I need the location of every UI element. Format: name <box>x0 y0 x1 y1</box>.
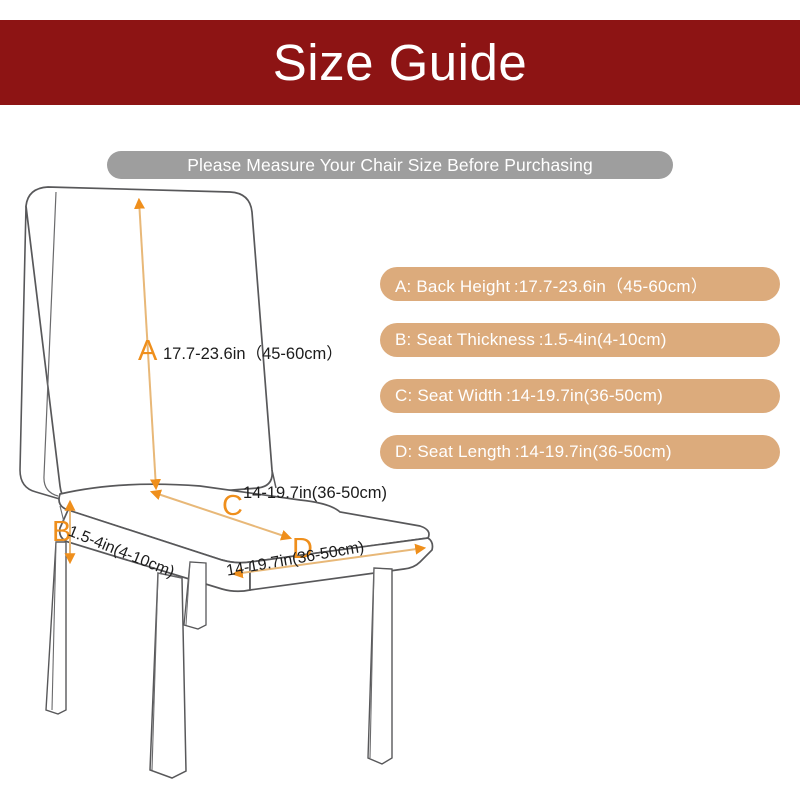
legend-row-b: B: Seat Thickness :1.5-4in(4-10cm) <box>380 323 780 357</box>
size-legend: A: Back Height :17.7-23.6in（45-60cm） B: … <box>380 267 780 491</box>
chair-leg-front-left <box>46 542 66 714</box>
header-banner: Size Guide <box>0 20 800 105</box>
legend-label-a: A: Back Height :17.7-23.6in（45-60cm） <box>395 272 708 297</box>
legend-label-d: D: Seat Length :14-19.7in(36-50cm) <box>395 442 672 462</box>
page-title: Size Guide <box>273 37 527 88</box>
legend-label-c: C: Seat Width :14-19.7in(36-50cm) <box>395 386 663 406</box>
dimension-letter-c: C <box>222 492 243 521</box>
legend-row-c: C: Seat Width :14-19.7in(36-50cm) <box>380 379 780 413</box>
legend-label-b: B: Seat Thickness :1.5-4in(4-10cm) <box>395 330 667 350</box>
dimension-value-c: 14-19.7in(36-50cm) <box>243 484 387 503</box>
legend-row-a: A: Back Height :17.7-23.6in（45-60cm） <box>380 267 780 301</box>
dimension-letter-a: A <box>138 337 157 366</box>
dimension-value-a: 17.7-23.6in（45-60cm） <box>163 340 343 364</box>
legend-row-d: D: Seat Length :14-19.7in(36-50cm) <box>380 435 780 469</box>
